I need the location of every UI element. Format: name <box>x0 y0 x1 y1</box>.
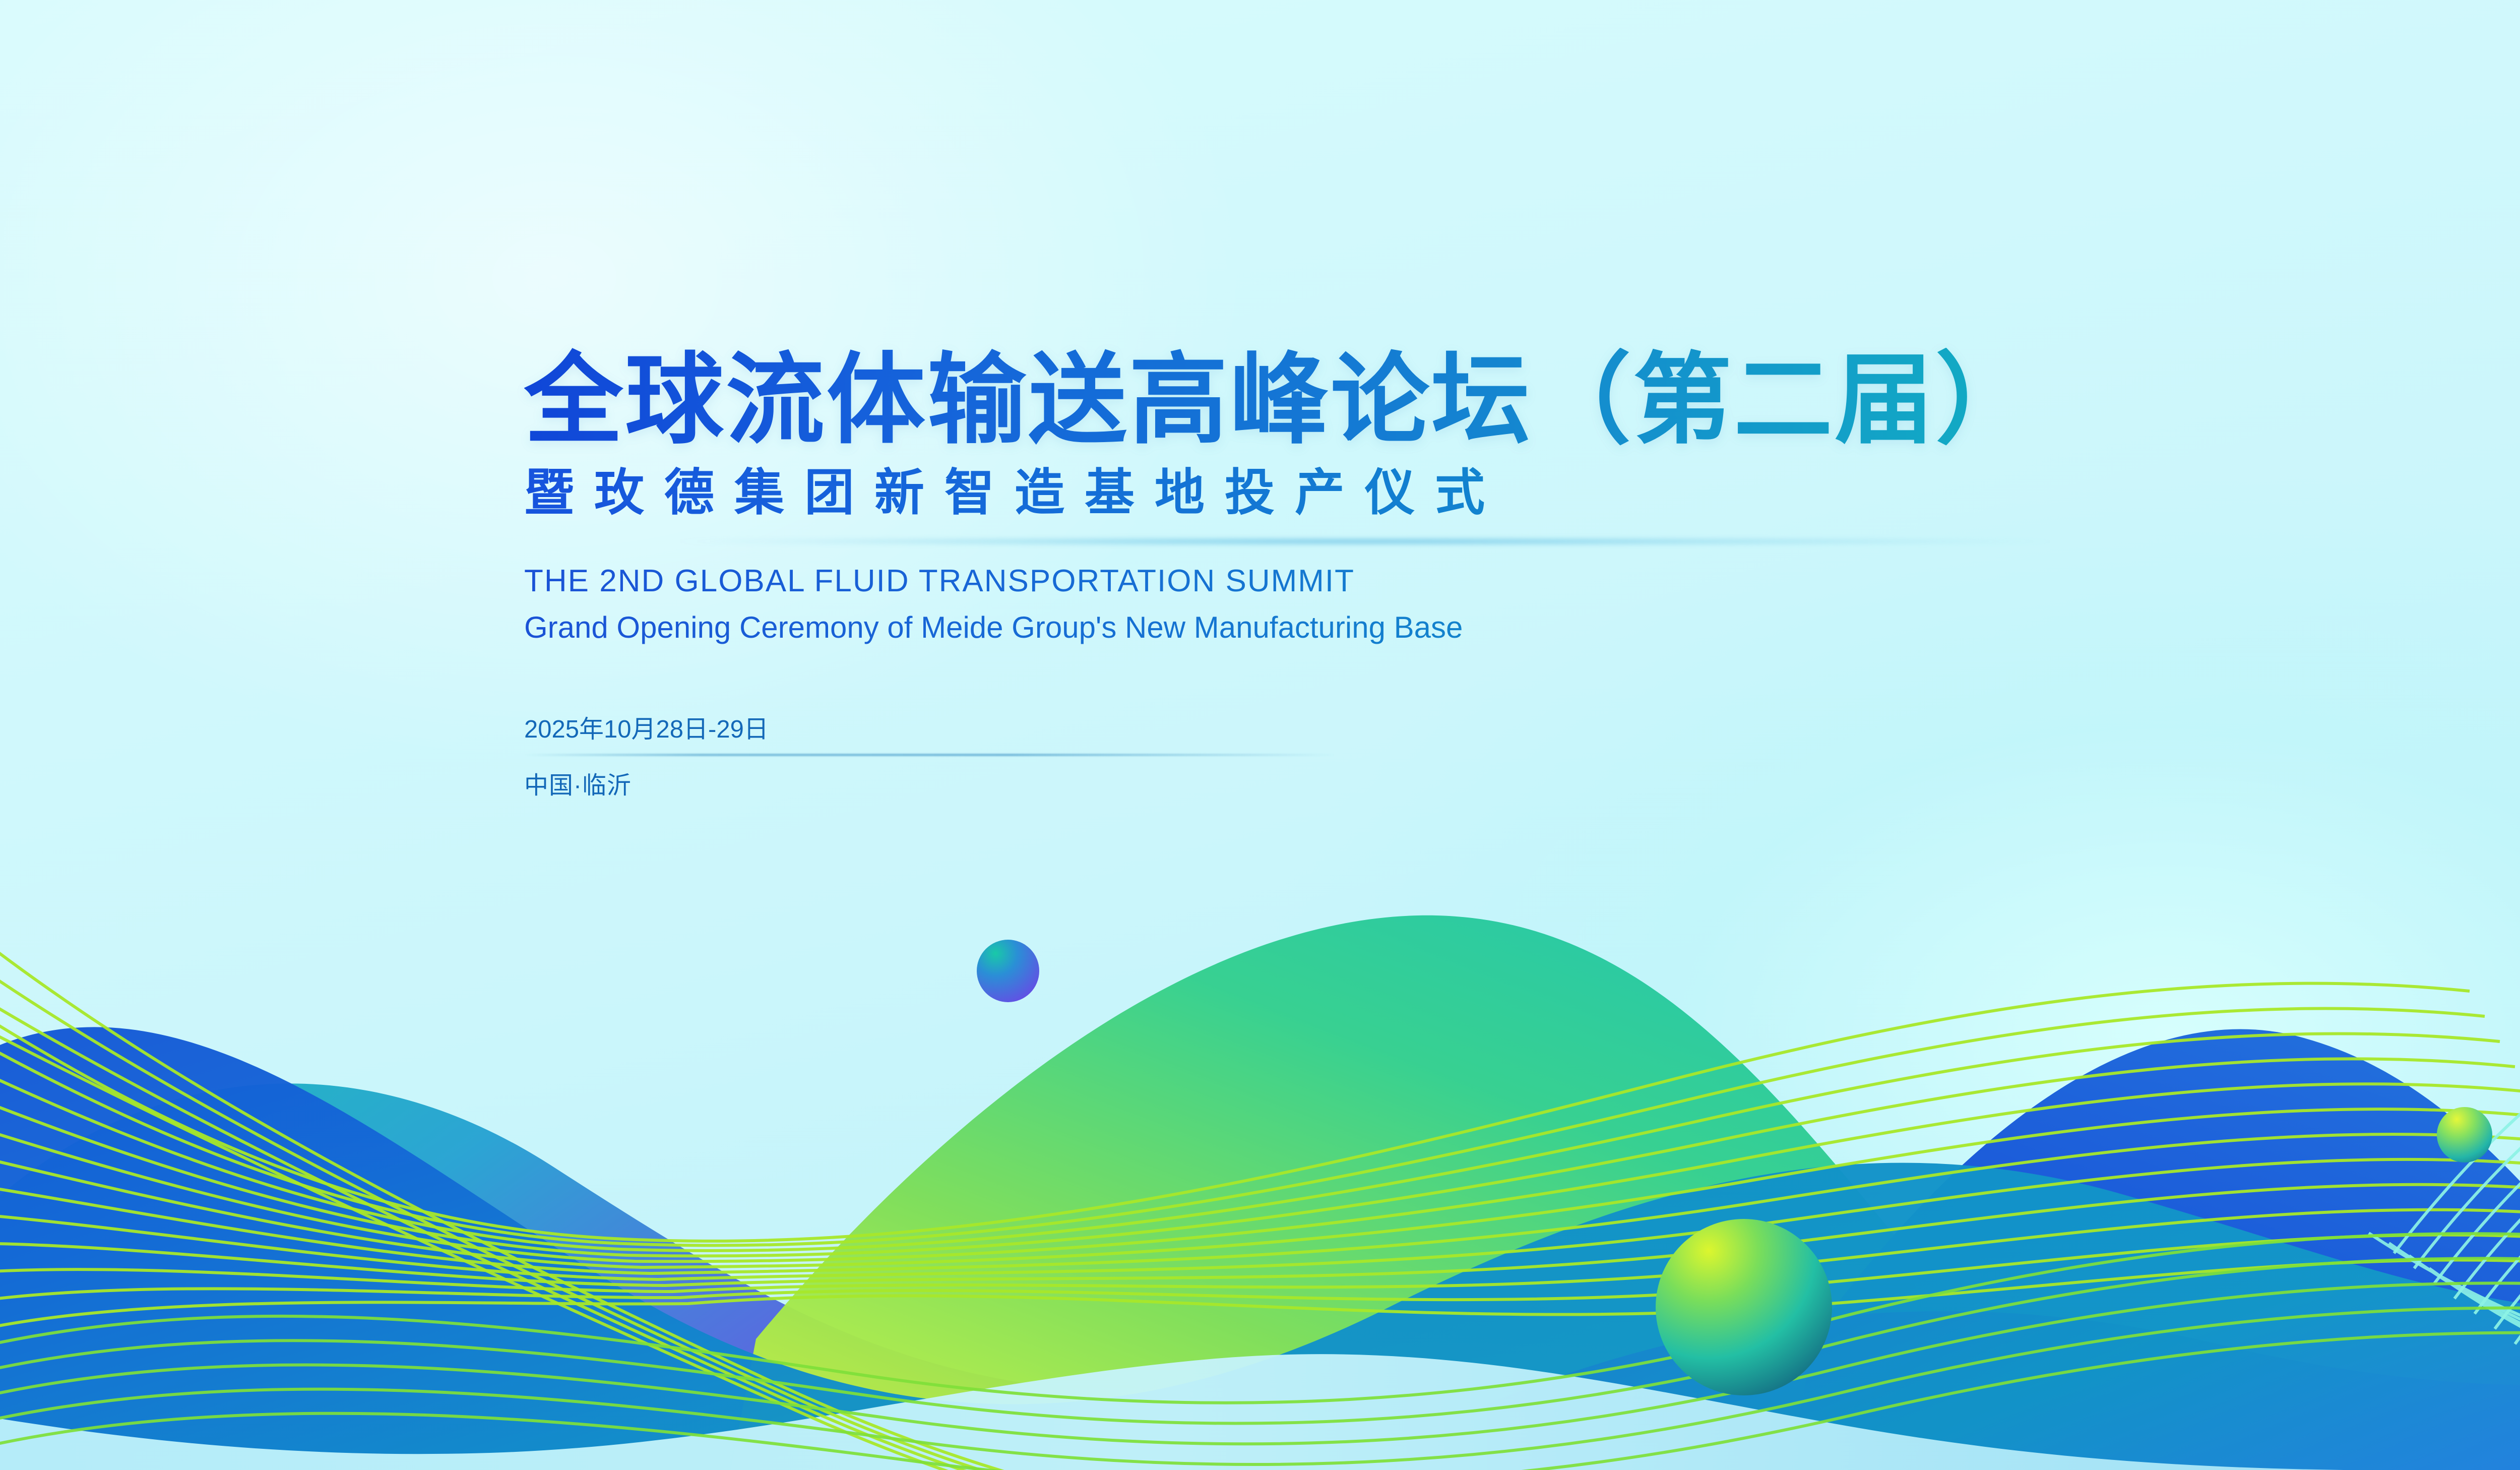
page-title: 全球流体输送高峰论坛（第二届） <box>524 348 2520 453</box>
title-divider <box>504 538 2298 545</box>
meta-divider <box>524 754 1336 756</box>
event-date: 2025年10月28日-29日 <box>524 709 2520 745</box>
event-location: 中国·临沂 <box>524 765 2520 801</box>
teal-purple-sphere-icon <box>977 940 1039 1002</box>
lime-green-sphere-small-icon <box>2437 1107 2492 1162</box>
poster-text-block: 全球流体输送高峰论坛（第二届） 暨玫德集团新智造基地投产仪式 THE 2ND G… <box>524 348 2520 801</box>
event-meta: 2025年10月28日-29日 中国·临沂 <box>524 709 2520 801</box>
english-subtitle: Grand Opening Ceremony of Meide Group's … <box>524 610 2520 645</box>
english-title: THE 2ND GLOBAL FLUID TRANSPORTATION SUMM… <box>524 563 2520 599</box>
poster-canvas: 全球流体输送高峰论坛（第二届） 暨玫德集团新智造基地投产仪式 THE 2ND G… <box>0 0 2520 1470</box>
lime-teal-sphere-large-icon <box>1656 1219 1832 1395</box>
page-subtitle: 暨玫德集团新智造基地投产仪式 <box>524 466 2520 520</box>
wave-artwork-front <box>0 840 2520 1470</box>
